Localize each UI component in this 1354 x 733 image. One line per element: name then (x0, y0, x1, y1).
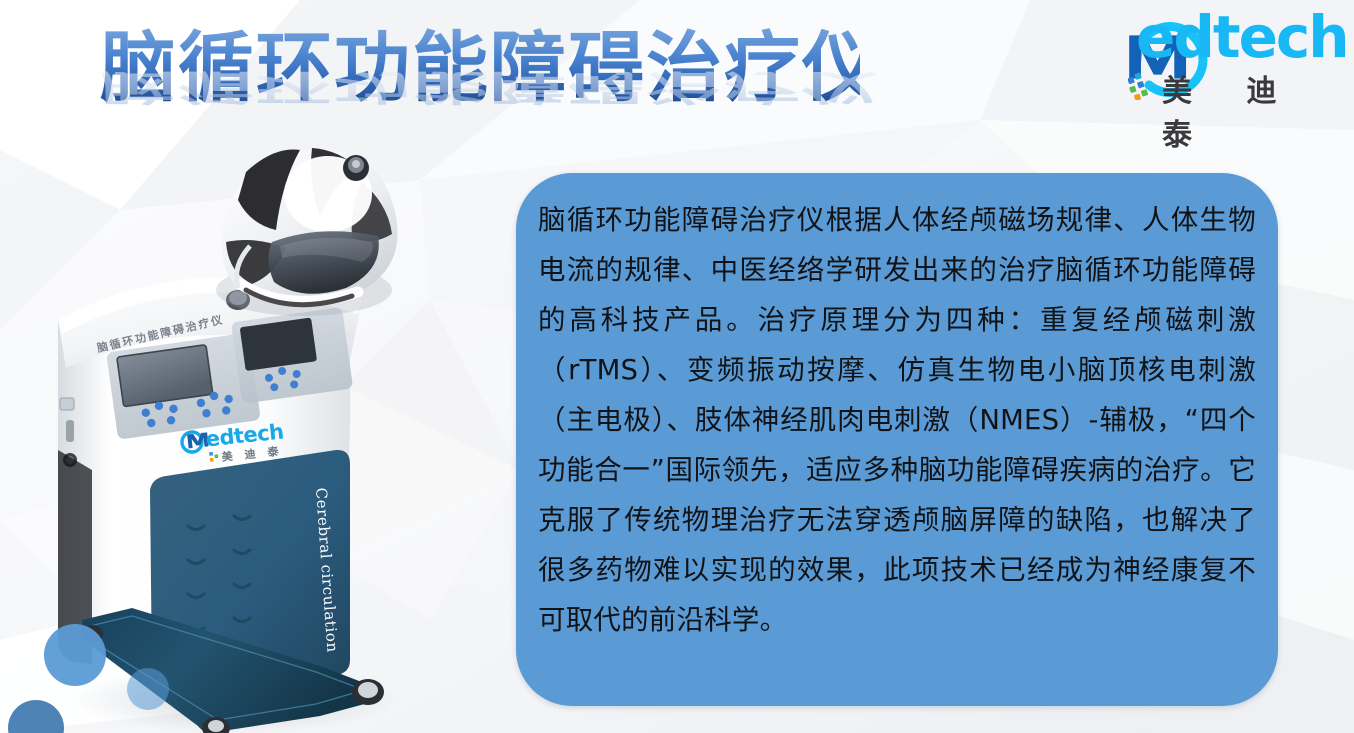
deco-circle-medium (127, 668, 169, 710)
logo-dots-icon (1128, 70, 1158, 100)
page-title: 脑循环功能障碍治疗仪 (100, 22, 860, 114)
brand-logo: edtech 美 迪 泰 (1074, 8, 1338, 112)
description-panel: 脑循环功能障碍治疗仪根据人体经颅磁场规律、人体生物电流的规律、中医经络学研发出来… (516, 173, 1278, 706)
brand-wordmark: edtech (1136, 6, 1348, 68)
device-helmet (216, 148, 398, 316)
description-text: 脑循环功能障碍治疗仪根据人体经颅磁场规律、人体生物电流的规律、中医经络学研发出来… (538, 195, 1256, 645)
brand-chinese-name: 美 迪 泰 (1162, 66, 1338, 154)
slide-canvas: 脑循环功能障碍治疗仪 脑循环功能障碍治疗仪 edtech 美 迪 泰 (0, 0, 1354, 733)
deco-circle-large (44, 624, 106, 686)
